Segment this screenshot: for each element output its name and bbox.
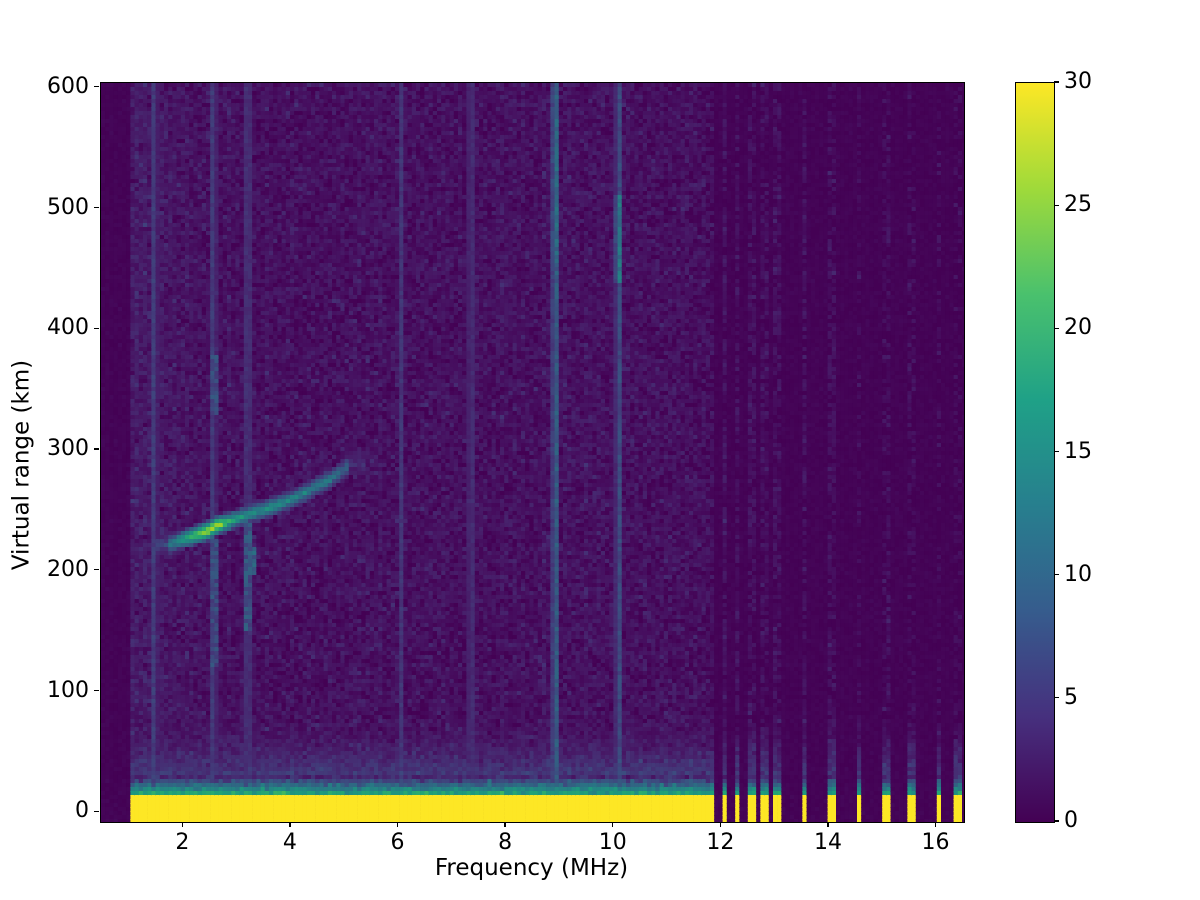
colorbar-tick-mark-30: [1054, 81, 1059, 82]
colorbar-tick-mark-5: [1054, 697, 1059, 698]
colorbar-tick-mark-0: [1054, 820, 1059, 821]
x-tick-label-10: 10: [599, 832, 627, 854]
x-tick-label-2: 2: [175, 832, 189, 854]
x-tick-mark-4: [289, 822, 290, 827]
x-tick-mark-2: [182, 822, 183, 827]
ionogram-axes: [100, 82, 965, 823]
colorbar-tick-label-30: 30: [1064, 71, 1092, 93]
y-tick-mark-300: [94, 448, 99, 449]
x-axis-label: Frequency (MHz): [100, 855, 963, 881]
x-tick-mark-12: [720, 822, 721, 827]
colorbar-tick-mark-25: [1054, 205, 1059, 206]
x-tick-mark-16: [935, 822, 936, 827]
x-tick-mark-14: [827, 822, 828, 827]
colorbar-tick-label-0: 0: [1064, 810, 1078, 832]
x-tick-label-12: 12: [706, 832, 734, 854]
colorbar-tick-label-15: 15: [1064, 441, 1092, 463]
x-tick-label-4: 4: [283, 832, 297, 854]
ionogram-figure: IRF Uppsala SDR Ionosonde UP158 2026-03-…: [0, 0, 1200, 900]
x-tick-mark-6: [397, 822, 398, 827]
colorbar-tick-label-10: 10: [1064, 564, 1092, 586]
colorbar-axes: [1015, 82, 1055, 823]
x-tick-mark-10: [612, 822, 613, 827]
y-tick-mark-0: [94, 811, 99, 812]
x-tick-label-16: 16: [922, 832, 950, 854]
y-tick-mark-200: [94, 569, 99, 570]
y-tick-mark-100: [94, 690, 99, 691]
x-tick-label-6: 6: [391, 832, 405, 854]
y-axis-label: Virtual range (km): [9, 96, 35, 835]
colorbar-tick-label-5: 5: [1064, 687, 1078, 709]
y-tick-mark-400: [94, 328, 99, 329]
colorbar-tick-mark-10: [1054, 574, 1059, 575]
y-tick-mark-600: [94, 86, 99, 87]
x-tick-mark-8: [504, 822, 505, 827]
ionogram-heatmap: [101, 83, 964, 822]
y-tick-mark-500: [94, 207, 99, 208]
colorbar-tick-label-20: 20: [1064, 317, 1092, 339]
colorbar-gradient: [1016, 83, 1054, 822]
colorbar-tick-label-25: 25: [1064, 194, 1092, 216]
x-tick-label-8: 8: [498, 832, 512, 854]
colorbar-tick-mark-15: [1054, 451, 1059, 452]
colorbar-tick-mark-20: [1054, 328, 1059, 329]
x-tick-label-14: 14: [814, 832, 842, 854]
